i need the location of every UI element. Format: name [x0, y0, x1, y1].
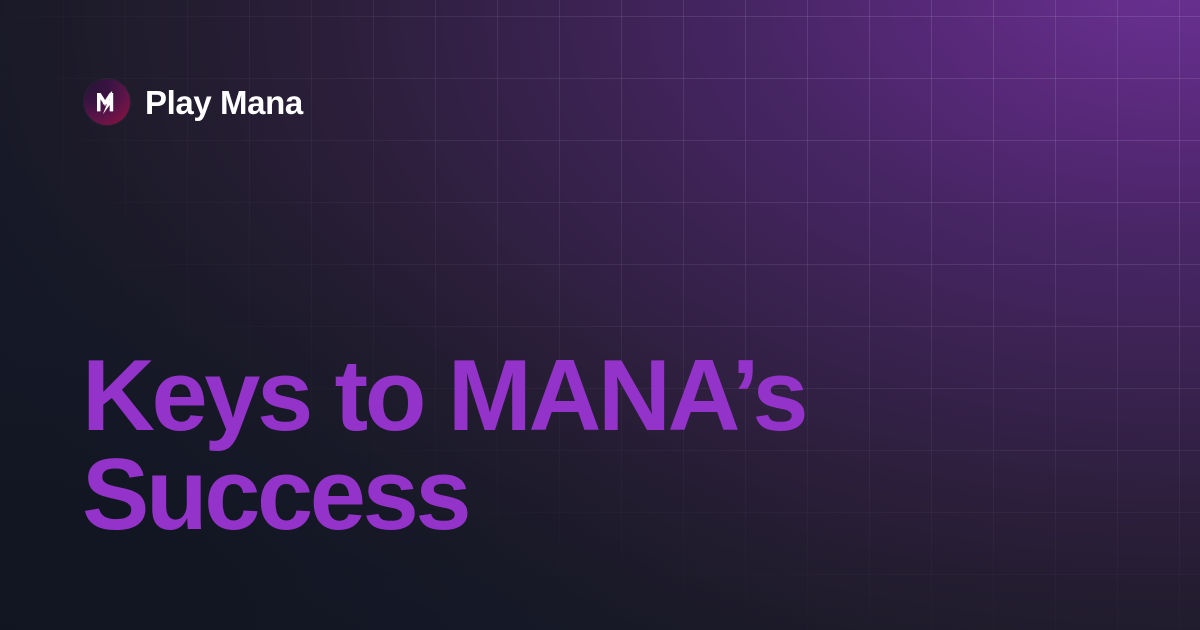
- og-social-card: Play Mana Keys to MANA’s Success: [0, 0, 1200, 630]
- brand-lockup: Play Mana: [84, 79, 303, 125]
- mana-m-lightning-icon: [84, 79, 130, 125]
- card-content: Play Mana Keys to MANA’s Success: [0, 0, 1200, 630]
- page-title: Keys to MANA’s Success: [82, 347, 982, 545]
- brand-name: Play Mana: [145, 86, 303, 119]
